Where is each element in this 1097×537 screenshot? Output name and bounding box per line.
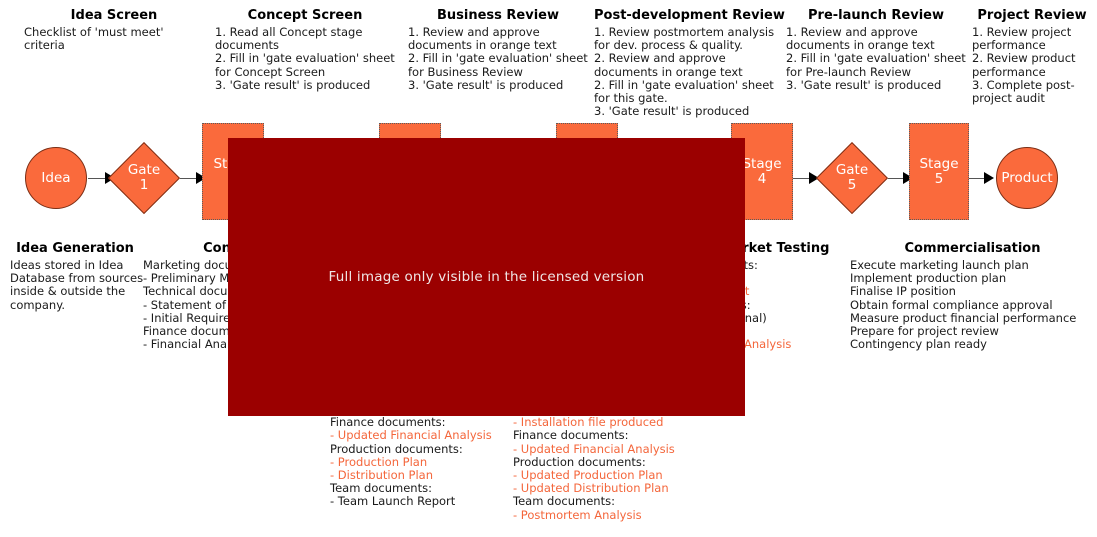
document-line: - Postmortem Analysis <box>513 509 713 522</box>
diagram-canvas: Idea Screen Checklist of 'must meet' cri… <box>0 0 1097 537</box>
license-watermark-text: Full image only visible in the licensed … <box>329 269 645 285</box>
document-line: - Updated Financial Analysis <box>330 429 520 442</box>
gate-title: Pre-launch Review <box>786 8 966 24</box>
document-list-development: Management Plan) Finance documents: - Up… <box>330 403 520 509</box>
document-line: Production documents: <box>330 443 520 456</box>
stage-line: inside & outside the <box>10 285 140 298</box>
gate-column-pre-launch-review: Pre-launch Review 1. Review and approve … <box>786 8 966 92</box>
flow-node-label: Product <box>1001 171 1052 186</box>
gate-column-concept-screen: Concept Screen 1. Read all Concept stage… <box>215 8 395 92</box>
flow-node-label: Gate 1 <box>108 142 180 214</box>
stage-line: Finalise IP position <box>850 285 1095 298</box>
stage-column-idea-generation: Idea Generation Ideas stored in Idea Dat… <box>10 241 140 312</box>
gate-line: performance <box>972 66 1092 79</box>
stage-line: company. <box>10 299 140 312</box>
flow-node-label: Gate 5 <box>816 142 888 214</box>
arrowhead-icon <box>984 172 994 184</box>
document-line: Finance documents: <box>513 429 713 442</box>
gate-line: for Pre-launch Review <box>786 66 966 79</box>
gate-title: Business Review <box>408 8 588 24</box>
document-line: - Team Launch Report <box>330 495 520 508</box>
stage-line: Contingency plan ready <box>850 338 1095 351</box>
gate-column-idea-screen: Idea Screen Checklist of 'must meet' cri… <box>24 8 204 52</box>
license-watermark-overlay: Full image only visible in the licensed … <box>228 138 745 416</box>
gate-column-project-review: Project Review 1. Review project perform… <box>972 8 1092 105</box>
gate-line: 2. Fill in 'gate evaluation' sheet <box>408 52 588 65</box>
gate-line: 2. Fill in 'gate evaluation' sheet <box>215 52 395 65</box>
stage-column-commercialisation: Commercialisation Execute marketing laun… <box>850 241 1095 351</box>
gate-line: for Business Review <box>408 66 588 79</box>
gate-line: project audit <box>972 92 1092 105</box>
flow-node-gate-5[interactable]: Gate 5 <box>816 142 888 214</box>
gate-line: for Concept Screen <box>215 66 395 79</box>
document-list-market-testing: - User Help files - Installation file pr… <box>513 403 713 522</box>
stage-line: Obtain formal compliance approval <box>850 299 1095 312</box>
document-line: - Updated Financial Analysis <box>513 443 713 456</box>
gate-line: 3. 'Gate result' is produced <box>786 79 966 92</box>
gate-line: 2. Review and approve <box>594 52 780 65</box>
gate-line: 3. 'Gate result' is produced <box>215 79 395 92</box>
gate-title: Project Review <box>972 8 1092 24</box>
gate-line: 2. Fill in 'gate evaluation' sheet <box>786 52 966 65</box>
flow-node-label: Stage 4 <box>742 157 781 187</box>
flow-node-stage-5[interactable]: Stage 5 <box>909 123 969 220</box>
gate-column-post-development-review: Post-development Review 1. Review postmo… <box>594 8 780 118</box>
gate-line: 3. 'Gate result' is produced <box>594 105 780 118</box>
gate-line: documents in orange text <box>594 66 780 79</box>
flow-node-label: Idea <box>41 171 70 186</box>
flow-node-gate-1[interactable]: Gate 1 <box>108 142 180 214</box>
gate-line: criteria <box>24 39 204 52</box>
flow-node-product[interactable]: Product <box>996 147 1058 209</box>
gate-title: Post-development Review <box>594 8 780 24</box>
gate-title: Concept Screen <box>215 8 395 24</box>
flow-node-idea[interactable]: Idea <box>25 147 87 209</box>
stage-title: Idea Generation <box>10 241 140 257</box>
gate-column-business-review: Business Review 1. Review and approve do… <box>408 8 588 92</box>
gate-title: Idea Screen <box>24 8 204 24</box>
document-line: Team documents: <box>513 495 713 508</box>
stage-title: Commercialisation <box>850 241 1095 257</box>
flow-node-label: Stage 5 <box>919 157 958 187</box>
gate-line: 2. Review product <box>972 52 1092 65</box>
gate-line: 3. 'Gate result' is produced <box>408 79 588 92</box>
